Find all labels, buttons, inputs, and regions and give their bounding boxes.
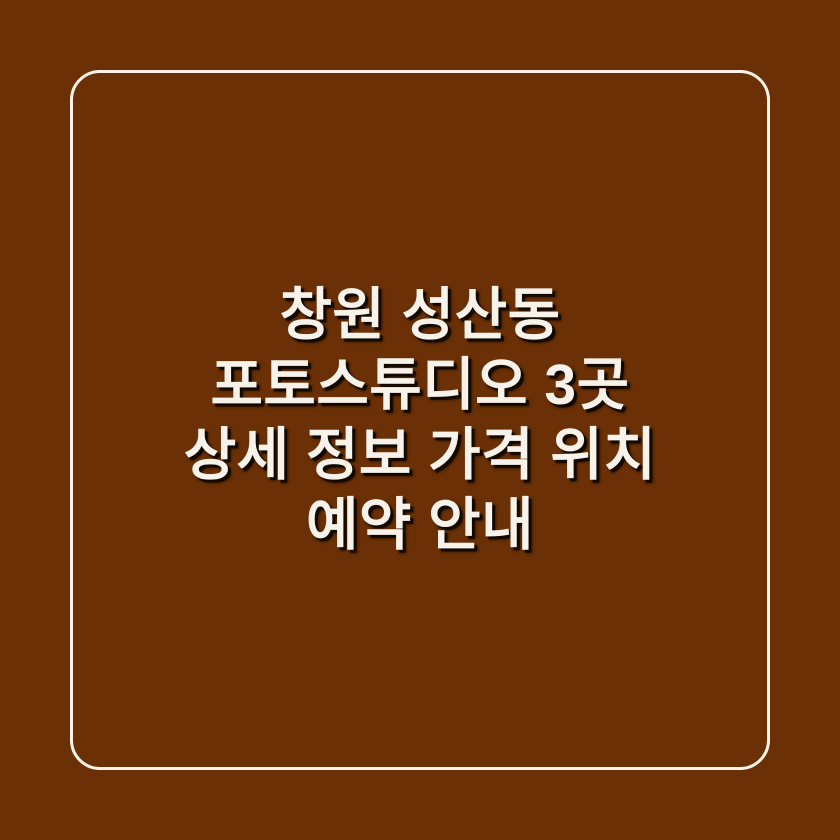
poster-canvas: 창원 성산동 포토스튜디오 3곳 상세 정보 가격 위치 예약 안내	[0, 0, 840, 840]
title-line-4: 예약 안내	[84, 490, 756, 560]
page-title: 창원 성산동 포토스튜디오 3곳 상세 정보 가격 위치 예약 안내	[70, 70, 770, 770]
title-line-3: 상세 정보 가격 위치	[84, 420, 756, 490]
title-line-2: 포토스튜디오 3곳	[84, 350, 756, 420]
title-line-1: 창원 성산동	[84, 280, 756, 350]
